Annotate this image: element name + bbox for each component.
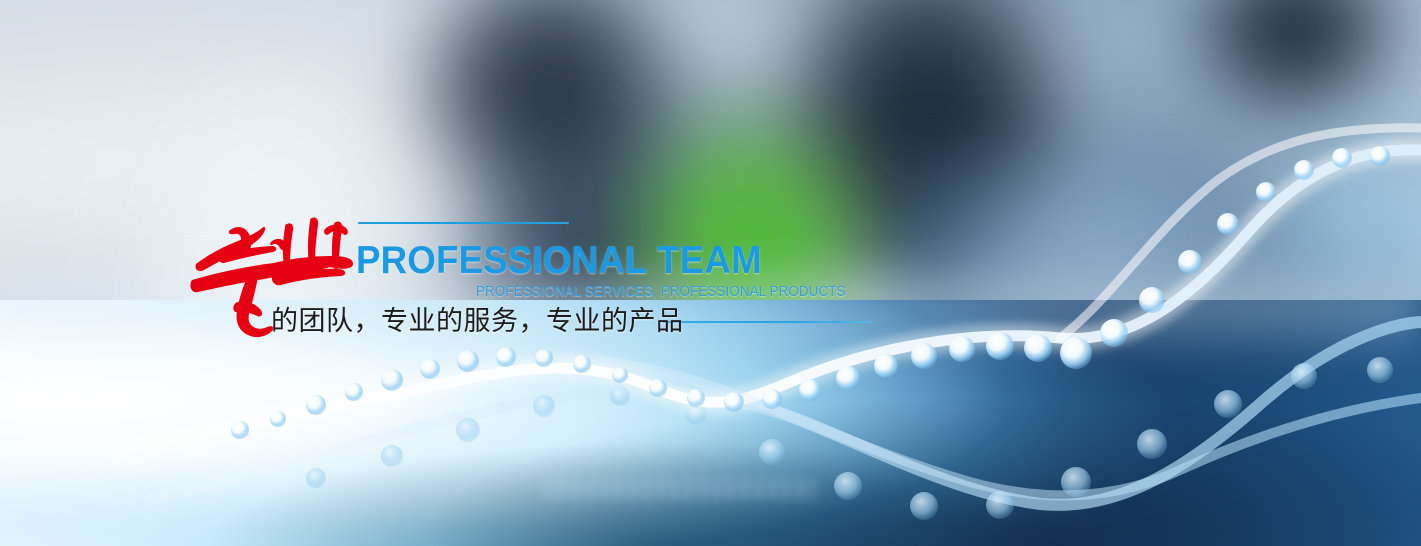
headline-english: PROFESSIONAL TEAM (356, 240, 762, 282)
decorative-rule-bottom (662, 321, 873, 323)
subtitle-english: PROFESSIONAL SERVICES, PROFESSIONAL PROD… (476, 284, 846, 301)
decorative-rule-top (358, 222, 569, 224)
hero-banner: PROFESSIONAL TEAM PROFESSIONAL SERVICES,… (0, 0, 1421, 546)
banner-content: PROFESSIONAL TEAM PROFESSIONAL SERVICES,… (0, 0, 1421, 546)
headline-chinese: 的团队，专业的服务，专业的产品 (271, 306, 684, 338)
